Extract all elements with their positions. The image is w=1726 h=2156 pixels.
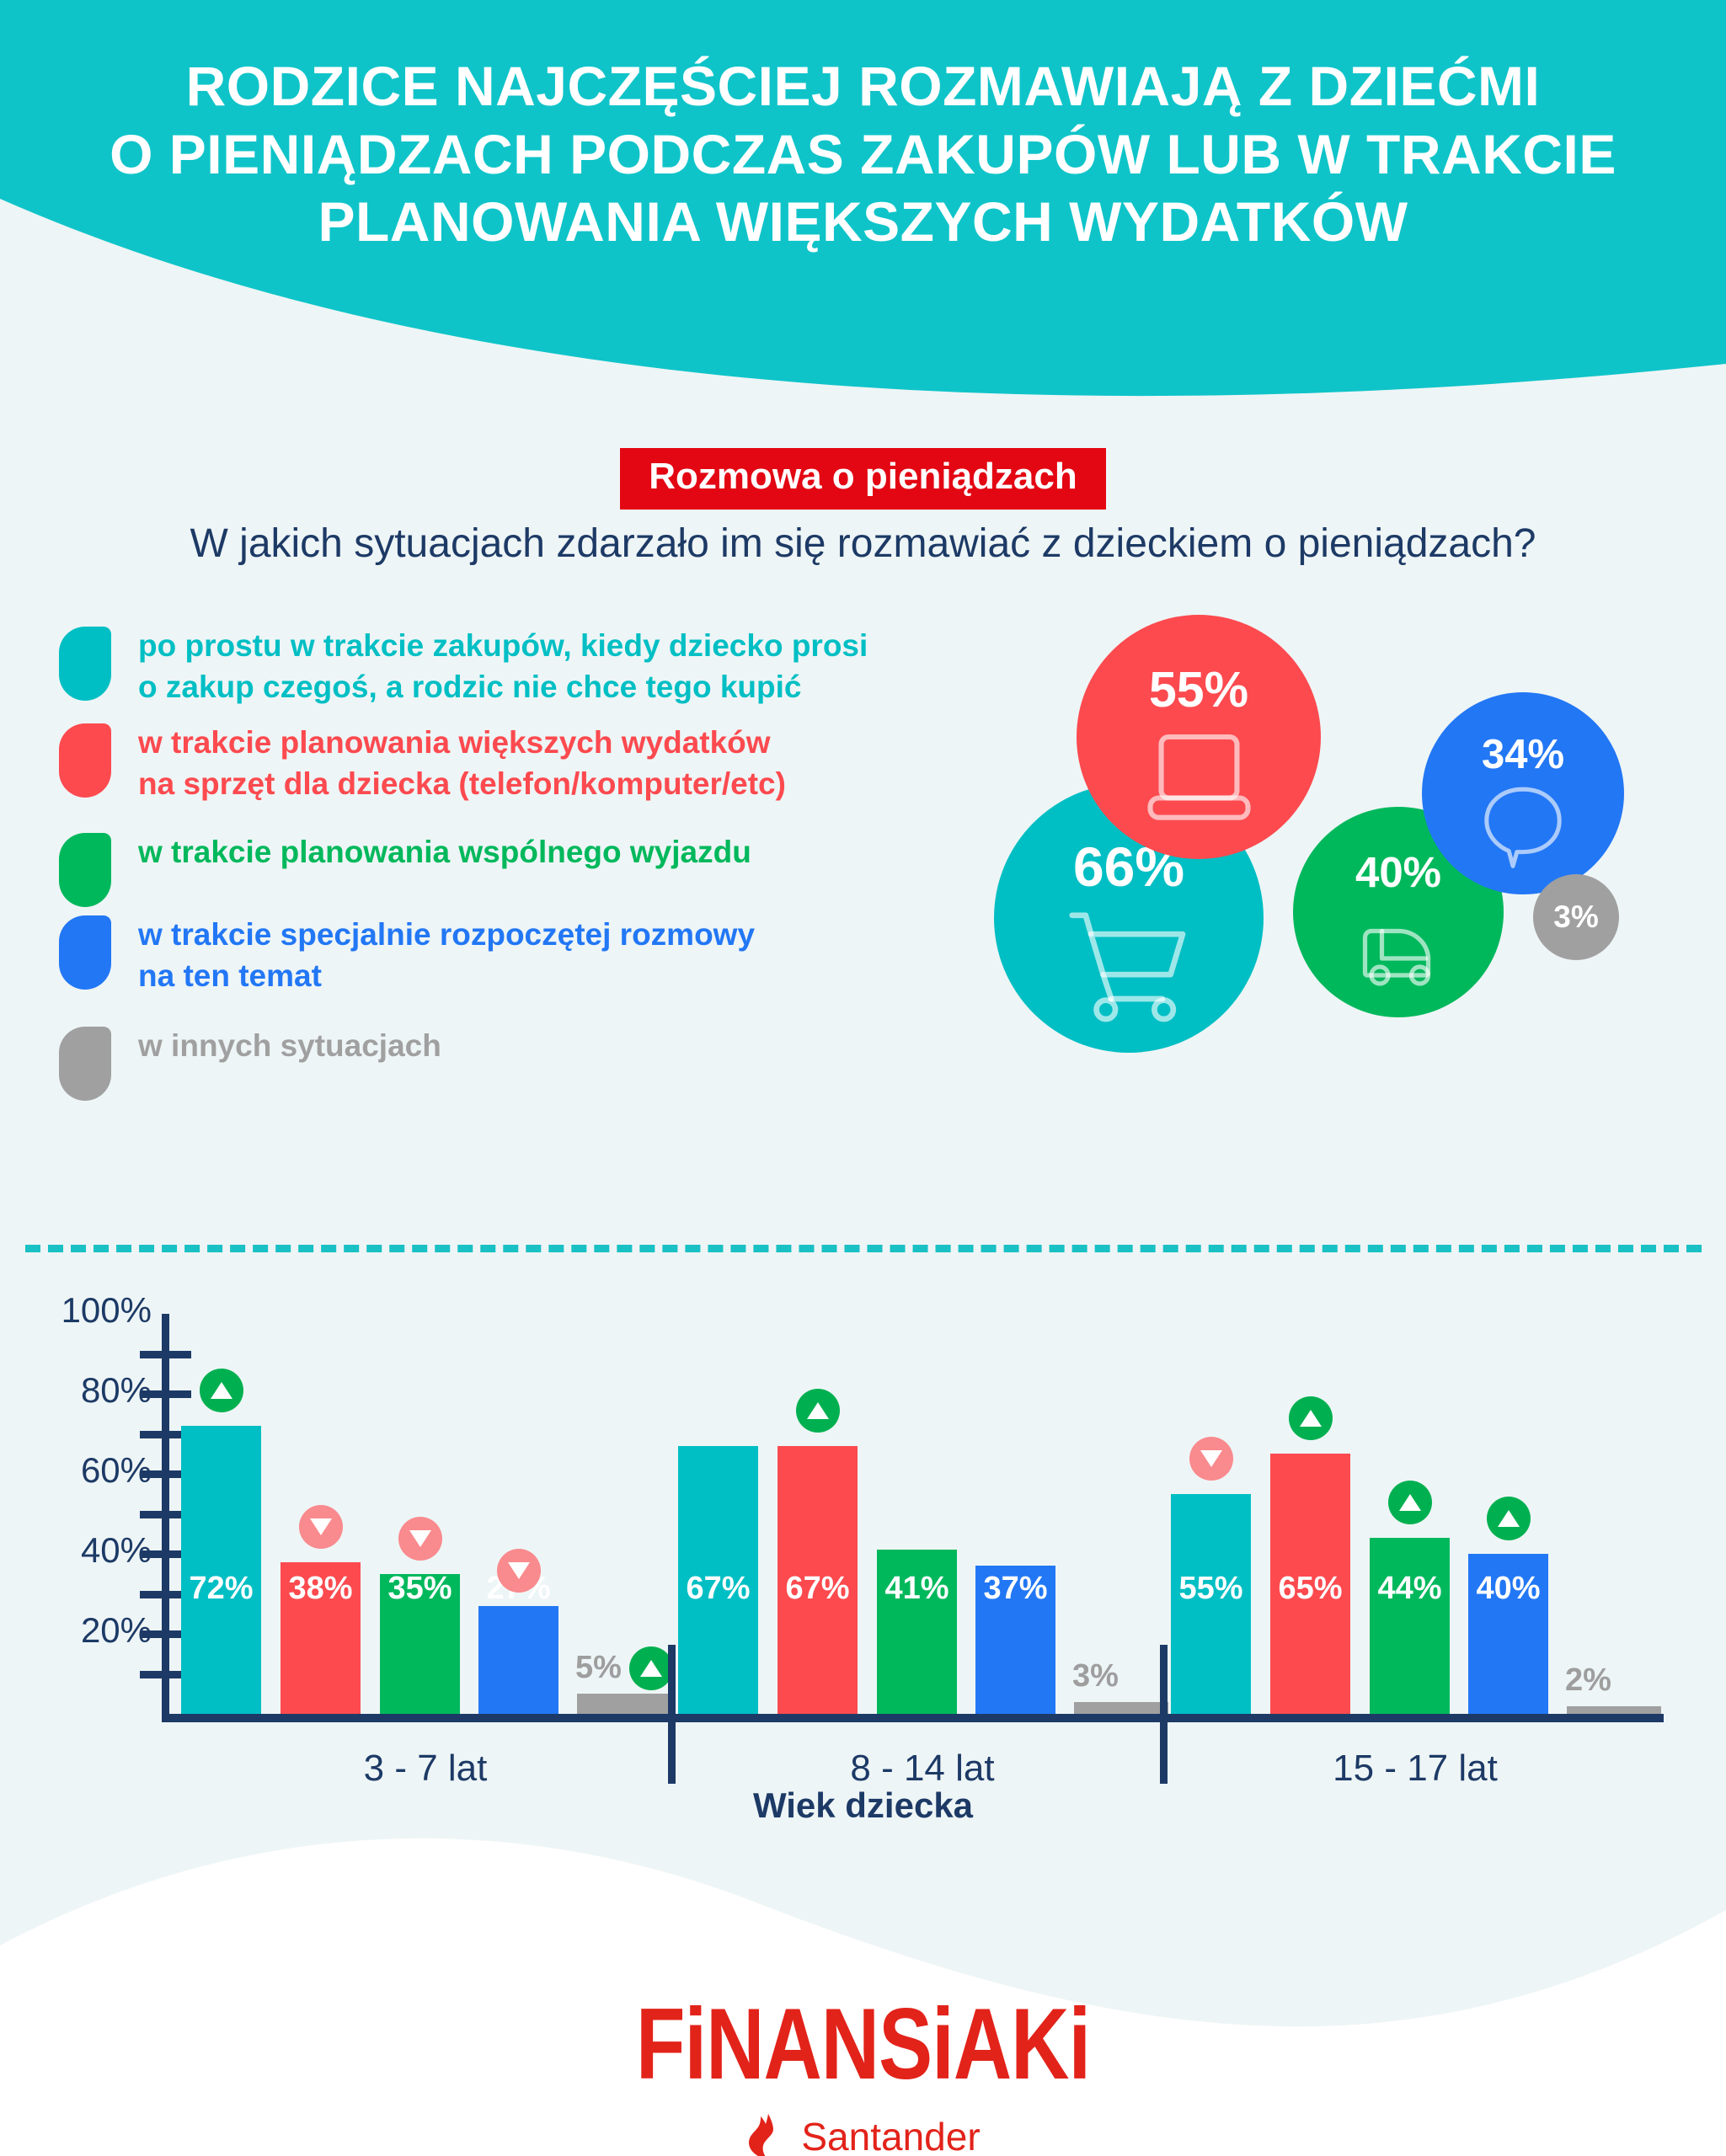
group-separator-1 [1160,1645,1168,1784]
legend-line-1: w trakcie planowania wspólnego wyjazdu [138,831,751,873]
trend-down-icon [1189,1437,1233,1481]
legend-item-label: po prostu w trakcie zakupów, kiedy dziec… [138,623,868,707]
y-axis-label: 100% [17,1290,152,1331]
trend-up-icon [796,1389,840,1433]
trend-down-icon [497,1549,541,1593]
laptop-icon [1138,712,1260,835]
car-icon [1346,891,1451,996]
bar-0-0 [181,1426,261,1714]
bubble-value: 3% [1533,899,1619,935]
bubble-55: 55% [1077,615,1321,859]
car-icon-wrapper [1293,891,1504,1001]
bubble-value: 55% [1077,661,1321,718]
bar-value-label: 40% [1468,1571,1548,1607]
legend-item-label: w trakcie planowania większych wydatkówn… [138,720,786,804]
bar-value-label: 37% [975,1571,1055,1607]
bar-value-label: 72% [181,1571,261,1607]
y-axis-label: 60% [17,1450,152,1491]
y-axis-label: 20% [17,1610,152,1651]
trend-down-icon [398,1517,442,1561]
trend-up-icon [1388,1481,1432,1524]
footer: FiNANSiAKi Santander [0,1994,1726,2156]
title-line-2: O PIENIĄDZACH PODCZAS ZAKUPÓW LUB W TRAK… [0,120,1726,189]
title-line-1: RODZICE NAJCZĘŚCIEJ ROZMAWIAJĄ Z DZIEĆMI [0,52,1726,120]
legend-line-1: w innych sytuacjach [138,1025,441,1066]
legend-item-label: w trakcie planowania wspólnego wyjazdu [138,830,751,873]
trend-up-icon [200,1369,243,1412]
section-badge-wrapper: Rozmowa o pieniądzach [0,448,1726,510]
bar-chart: 20%40%60%80%100%72%38%35%27%5%3 - 7 lat6… [0,1272,1726,1819]
legend-bullet-icon [59,723,111,798]
legend-line-2: na ten temat [138,955,755,996]
bar-value-label: 41% [877,1571,957,1607]
legend-line-1: w trakcie specjalnie rozpoczętej rozmowy [138,914,755,955]
y-axis-label: 80% [17,1370,152,1411]
trend-up-icon [1289,1396,1333,1440]
legend-item-label: w innych sytuacjach [138,1023,441,1066]
bar-0-3 [478,1606,558,1714]
bubble-value: 34% [1422,731,1624,778]
section-badge: Rozmowa o pieniądzach [620,448,1106,510]
bubble-34: 34% [1422,692,1624,894]
bar-1-4 [1074,1702,1168,1714]
santander-logo: Santander [0,2112,1726,2156]
y-axis-minor-tick [140,1351,191,1358]
bar-value-label: 67% [778,1571,858,1607]
bar-value-label: 35% [380,1571,460,1607]
legend-line-1: w trakcie planowania większych wydatków [138,722,786,763]
trend-up-icon [1487,1497,1531,1540]
bar-value-label: 67% [678,1571,758,1607]
legend-item-label: w trakcie specjalnie rozpoczętej rozmowy… [138,912,755,996]
bubble-chart: 66%55%40%34%3% [994,615,1693,1187]
survey-question: W jakich sytuacjach zdarzało im się rozm… [0,520,1726,567]
x-axis-group-label: 8 - 14 lat [678,1748,1167,1790]
legend-item-0: po prostu w trakcie zakupów, kiedy dziec… [59,623,868,707]
speech-bubble-icon-wrapper [1422,773,1624,878]
legend-item-3: w trakcie specjalnie rozpoczętej rozmowy… [59,912,755,996]
bar-value-label: 2% [1565,1662,1643,1699]
bar-value-label: 38% [281,1571,361,1607]
bar-0-4 [577,1694,671,1714]
trend-up-icon [629,1646,673,1690]
shopping-cart-icon-wrapper [994,891,1264,1030]
santander-wordmark: Santander [801,2114,980,2156]
bubble-3: 3% [1533,874,1619,960]
bar-2-2 [1370,1538,1450,1714]
page-title: RODZICE NAJCZĘŚCIEJ ROZMAWIAJĄ Z DZIEĆMI… [0,52,1726,256]
legend-bullet-icon [59,627,111,701]
bar-value-label: 55% [1171,1571,1251,1607]
legend-bullet-icon [59,1027,111,1101]
legend-line-2: na sprzęt dla dziecka (telefon/komputer/… [138,763,786,804]
legend-item-2: w trakcie planowania wspólnego wyjazdu [59,830,751,907]
x-axis-title: Wiek dziecka [0,1785,1726,1826]
x-axis-baseline [162,1714,1664,1722]
x-axis-group-label: 15 - 17 lat [1171,1748,1659,1790]
bar-2-4 [1567,1706,1661,1715]
title-line-3: PLANOWANIA WIĘKSZYCH WYDATKÓW [0,188,1726,256]
finansiaki-logo: FiNANSiAKi [636,1994,1090,2095]
group-separator-0 [668,1645,676,1784]
bar-value-label: 65% [1270,1571,1350,1607]
laptop-icon-wrapper [1077,712,1321,839]
bar-value-label: 3% [1072,1658,1150,1694]
infographic-page: RODZICE NAJCZĘŚCIEJ ROZMAWIAJĄ Z DZIEĆMI… [0,0,1726,2156]
shopping-cart-icon [1061,891,1196,1026]
speech-bubble-icon [1472,773,1574,874]
legend-line-1: po prostu w trakcie zakupów, kiedy dziec… [138,625,868,666]
bar-value-label: 44% [1370,1571,1450,1607]
santander-flame-icon [745,2112,791,2156]
legend-item-4: w innych sytuacjach [59,1023,441,1101]
y-axis-line [162,1314,169,1722]
y-axis-label: 40% [17,1530,152,1571]
section-divider [25,1245,1702,1252]
trend-down-icon [299,1505,343,1549]
legend-item-1: w trakcie planowania większych wydatkówn… [59,720,786,804]
legend-bullet-icon [59,915,111,990]
legend-line-2: o zakup czegoś, a rodzic nie chce tego k… [138,666,868,707]
legend-bullet-icon [59,833,111,907]
x-axis-group-label: 3 - 7 lat [181,1748,670,1790]
